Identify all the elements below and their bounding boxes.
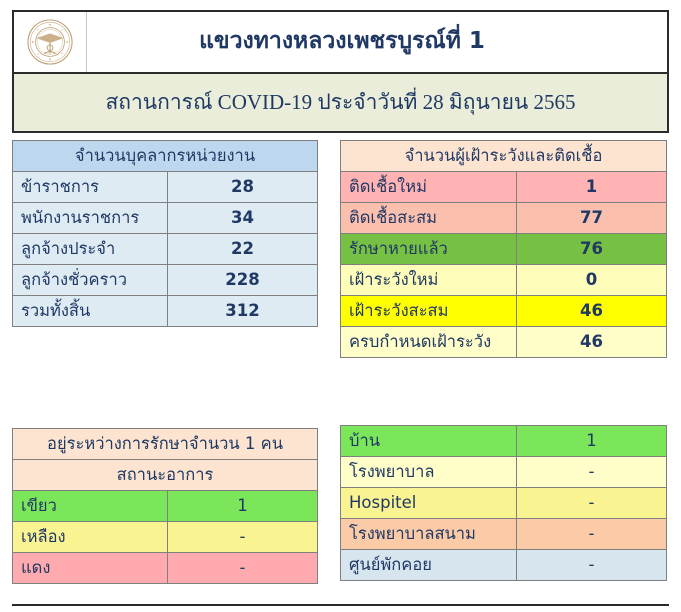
treatment-row-label: แดง xyxy=(13,553,168,584)
table-row: รวมทั้งสิ้น 312 xyxy=(13,296,318,327)
table-row: ติดเชื้อสะสม 77 xyxy=(341,203,667,234)
location-row-value: - xyxy=(517,519,667,550)
table-row: ลูกจ้างประจำ 22 xyxy=(13,234,318,265)
table-row: เฝ้าระวังใหม่ 0 xyxy=(341,265,667,296)
table-header-row: อยู่ระหว่างการรักษาจำนวน 1 คน xyxy=(13,429,318,460)
treatment-row-value: - xyxy=(168,522,318,553)
location-row-label: Hospitel xyxy=(341,488,517,519)
cases-table-header: จำนวนผู้เฝ้าระวังและติดเชื้อ xyxy=(341,141,667,172)
table-row: ข้าราชการ 28 xyxy=(13,172,318,203)
treatment-row-value: 1 xyxy=(168,491,318,522)
table-row: เหลือง - xyxy=(13,522,318,553)
page-title: แขวงทางหลวงเพชรบูรณ์ที่ 1 xyxy=(199,29,485,54)
page-header: แขวงทางหลวงเพชรบูรณ์ที่ 1 สถานการณ์ COVI… xyxy=(12,10,669,133)
staff-row-label: พนักงานราชการ xyxy=(13,203,168,234)
cases-row-value: 0 xyxy=(517,265,667,296)
cases-row-value: 77 xyxy=(517,203,667,234)
staff-row-value: 22 xyxy=(168,234,318,265)
staff-row-value: 228 xyxy=(168,265,318,296)
treatment-location-table: บ้าน 1 โรงพยาบาล - Hospitel - โรงพยาบาลส… xyxy=(340,425,667,581)
table-row: ครบกำหนดเฝ้าระวัง 46 xyxy=(341,327,667,358)
table-row: พนักงานราชการ 34 xyxy=(13,203,318,234)
table-row: ศูนย์พักคอย - xyxy=(341,550,667,581)
cases-row-label: เฝ้าระวังใหม่ xyxy=(341,265,517,296)
cases-surveillance-table: จำนวนผู้เฝ้าระวังและติดเชื้อ ติดเชื้อใหม… xyxy=(340,140,667,358)
table-row: รักษาหายแล้ว 76 xyxy=(341,234,667,265)
staff-total-value: 312 xyxy=(168,296,318,327)
table-row: แดง - xyxy=(13,553,318,584)
subtitle-row: สถานการณ์ COVID-19 ประจำวันที่ 28 มิถุนา… xyxy=(14,72,667,131)
cases-row-label: เฝ้าระวังสะสม xyxy=(341,296,517,327)
staff-row-label: ลูกจ้างประจำ xyxy=(13,234,168,265)
department-of-highways-seal-icon xyxy=(26,18,74,66)
location-row-label: บ้าน xyxy=(341,426,517,457)
cases-row-label: ติดเชื้อสะสม xyxy=(341,203,517,234)
page-subtitle: สถานการณ์ COVID-19 ประจำวันที่ 28 มิถุนา… xyxy=(105,91,575,114)
table-row: ติดเชื้อใหม่ 1 xyxy=(341,172,667,203)
treatment-row-label: เขียว xyxy=(13,491,168,522)
staff-count-table: จำนวนบุคลากรหน่วยงาน ข้าราชการ 28 พนักงา… xyxy=(12,140,318,327)
staff-row-value: 28 xyxy=(168,172,318,203)
staff-total-label: รวมทั้งสิ้น xyxy=(13,296,168,327)
treatment-table-subheader: สถานะอาการ xyxy=(13,460,318,491)
location-row-value: - xyxy=(517,457,667,488)
dashboard-page: แขวงทางหลวงเพชรบูรณ์ที่ 1 สถานการณ์ COVI… xyxy=(0,0,681,612)
staff-table-header: จำนวนบุคลากรหน่วยงาน xyxy=(13,141,318,172)
staff-row-label: ข้าราชการ xyxy=(13,172,168,203)
bottom-divider xyxy=(12,604,669,606)
treatment-row-label: เหลือง xyxy=(13,522,168,553)
treatment-table-header: อยู่ระหว่างการรักษาจำนวน 1 คน xyxy=(13,429,318,460)
cases-row-value: 1 xyxy=(517,172,667,203)
staff-row-value: 34 xyxy=(168,203,318,234)
table-header-row: จำนวนผู้เฝ้าระวังและติดเชื้อ xyxy=(341,141,667,172)
cases-row-label: ติดเชื้อใหม่ xyxy=(341,172,517,203)
table-header-row: จำนวนบุคลากรหน่วยงาน xyxy=(13,141,318,172)
cases-row-value: 46 xyxy=(517,296,667,327)
cases-row-value: 76 xyxy=(517,234,667,265)
cases-row-value: 46 xyxy=(517,327,667,358)
logo-cell xyxy=(14,12,87,72)
table-row: เฝ้าระวังสะสม 46 xyxy=(341,296,667,327)
treatment-row-value: - xyxy=(168,553,318,584)
table-row: Hospitel - xyxy=(341,488,667,519)
cases-row-label: รักษาหายแล้ว xyxy=(341,234,517,265)
location-row-label: ศูนย์พักคอย xyxy=(341,550,517,581)
table-row: โรงพยาบาล - xyxy=(341,457,667,488)
location-row-label: โรงพยาบาล xyxy=(341,457,517,488)
location-row-value: - xyxy=(517,550,667,581)
staff-row-label: ลูกจ้างชั่วคราว xyxy=(13,265,168,296)
title-row: แขวงทางหลวงเพชรบูรณ์ที่ 1 xyxy=(14,12,667,72)
location-row-value: 1 xyxy=(517,426,667,457)
table-row: บ้าน 1 xyxy=(341,426,667,457)
location-row-label: โรงพยาบาลสนาม xyxy=(341,519,517,550)
title-cell: แขวงทางหลวงเพชรบูรณ์ที่ 1 xyxy=(87,12,667,72)
table-row: โรงพยาบาลสนาม - xyxy=(341,519,667,550)
table-row: ลูกจ้างชั่วคราว 228 xyxy=(13,265,318,296)
table-row: เขียว 1 xyxy=(13,491,318,522)
table-subheader-row: สถานะอาการ xyxy=(13,460,318,491)
location-row-value: - xyxy=(517,488,667,519)
treatment-status-table: อยู่ระหว่างการรักษาจำนวน 1 คน สถานะอาการ… xyxy=(12,428,318,584)
cases-row-label: ครบกำหนดเฝ้าระวัง xyxy=(341,327,517,358)
